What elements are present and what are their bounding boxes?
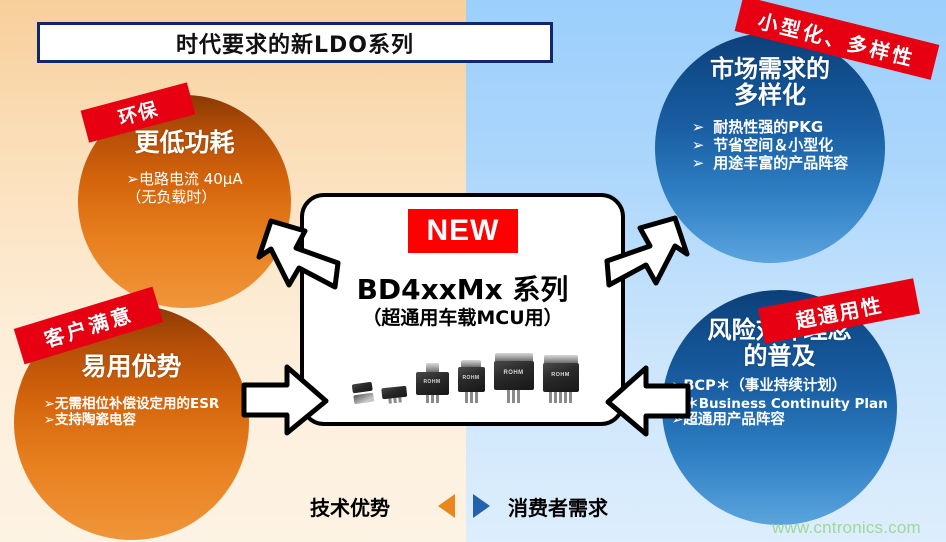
- package-logo-label: ROHM: [458, 375, 485, 381]
- circle-heading-ease-of-use: 易用优势: [81, 353, 181, 380]
- slide-title-banner: 时代要求的新LDO系列: [37, 22, 553, 63]
- list-item: ➢支持陶瓷电容: [44, 412, 220, 428]
- list-item-label: 节省空间＆小型化: [713, 136, 833, 154]
- legend-technical-advantage: 技术优势: [310, 492, 390, 521]
- package-d2pak-small-icon: ROHM: [458, 360, 485, 403]
- heading-line-2: 多样化: [710, 83, 830, 109]
- page-title: 时代要求的新LDO系列: [176, 27, 414, 59]
- package-lineup-images: ROHM ROHM ROHM ROHM: [318, 343, 613, 403]
- package-sot-icon: [381, 386, 408, 405]
- circle-bullets-ease-of-use: ➢无需相位补偿设定用的ESR ➢支持陶瓷电容: [44, 396, 220, 429]
- arrow-from-risk-hedge: [600, 358, 695, 446]
- list-item: ➢ 用途丰富的产品阵容: [692, 154, 849, 172]
- circle-bullets-market-demand: ➢ 耐热性强的PKG ➢ 节省空间＆小型化 ➢ 用途丰富的产品阵容: [692, 118, 849, 173]
- circle-bullets-lower-power: ➢电路电流 40μA （无负载时）: [126, 170, 242, 207]
- list-item-footnote: ＊Business Continuity Plan: [671, 396, 888, 412]
- arrow-from-lower-power: [256, 205, 351, 295]
- circle-heading-market-demand: 市场需求的 多样化: [710, 57, 830, 109]
- list-item: ➢超通用产品阵容: [671, 412, 888, 430]
- list-item: ➢ 节省空间＆小型化: [692, 136, 849, 154]
- product-subtitle: （超通用车载MCU用）: [300, 303, 625, 330]
- arrow-from-ease-of-use: [238, 355, 333, 440]
- list-item: ➢ 耐热性强的PKG: [692, 118, 849, 136]
- package-to263-icon: ROHM: [543, 355, 579, 403]
- site-watermark: www.cntronics.com: [772, 518, 921, 538]
- list-item: ➢BCP＊（事业持续计划）: [671, 378, 888, 396]
- package-logo-label: ROHM: [494, 370, 534, 376]
- circle-bullets-risk-hedge: ➢BCP＊（事业持续计划） ＊Business Continuity Plan …: [671, 378, 888, 430]
- bullet-marker-icon: ➢: [692, 118, 705, 136]
- package-dpak-icon: ROHM: [416, 363, 449, 403]
- list-item: （无负载时）: [126, 188, 242, 206]
- package-logo-label: ROHM: [416, 379, 449, 385]
- list-item-label: 用途丰富的产品阵容: [713, 154, 848, 172]
- heading-line-1: 市场需求的: [710, 57, 830, 83]
- package-sop-small-icon: [351, 382, 374, 405]
- package-to252-icon: ROHM: [494, 353, 534, 403]
- bullet-marker-icon: ➢: [692, 136, 705, 154]
- arrow-from-market-demand: [595, 203, 690, 295]
- legend-consumer-demand: 消费者需求: [508, 492, 608, 521]
- triangle-left-icon: [438, 494, 455, 518]
- circle-heading-lower-power: 更低功耗: [134, 129, 234, 156]
- new-badge: NEW: [408, 209, 518, 253]
- bullet-marker-icon: ➢: [692, 154, 705, 172]
- list-item: ➢电路电流 40μA: [126, 170, 242, 188]
- list-item-label: 耐热性强的PKG: [713, 118, 823, 136]
- slide-canvas: 时代要求的新LDO系列 更低功耗 ➢电路电流 40μA （无负载时） 环保 易用…: [0, 0, 946, 542]
- list-item: ➢无需相位补偿设定用的ESR: [44, 396, 220, 412]
- heading-line-2: 的普及: [708, 344, 852, 370]
- triangle-right-icon: [473, 494, 490, 518]
- package-logo-label: ROHM: [543, 372, 579, 378]
